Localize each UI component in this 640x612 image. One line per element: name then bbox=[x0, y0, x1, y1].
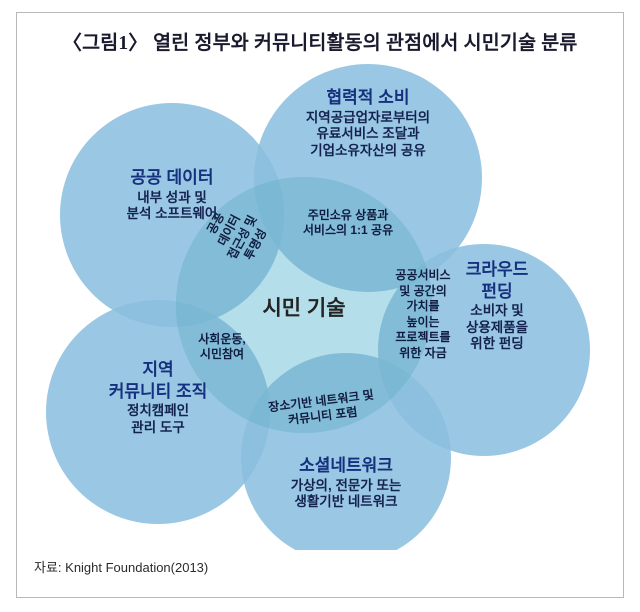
venn-diagram: 공공 데이터 내부 성과 및 분석 소프트웨어 협력적 소비 지역공급업자로부터… bbox=[16, 60, 624, 550]
page-title: 〈그림1〉 열린 정부와 커뮤니티활동의 관점에서 시민기술 분류 bbox=[0, 26, 640, 55]
source-note: 자료: Knight Foundation(2013) bbox=[34, 557, 208, 576]
core-highlight bbox=[176, 177, 432, 433]
venn-svg bbox=[16, 60, 624, 550]
figure-page: 〈그림1〉 열린 정부와 커뮤니티활동의 관점에서 시민기술 분류 bbox=[0, 0, 640, 612]
